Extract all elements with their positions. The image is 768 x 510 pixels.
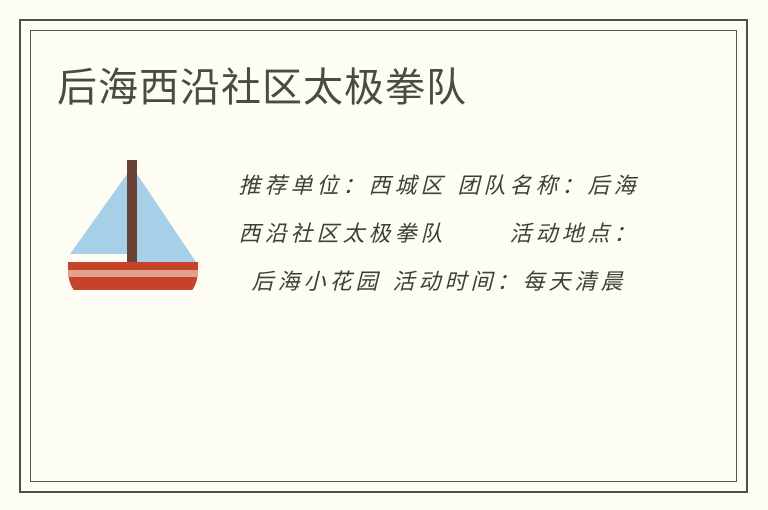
page-title: 后海西沿社区太极拳队 — [57, 62, 467, 114]
hull-stripe-shape — [68, 270, 198, 277]
info-card: 后海西沿社区太极拳队 推荐单位：西城区 团队名称：后海西沿社区太极拳队 活动地点… — [0, 0, 768, 510]
sail-left-shape — [70, 174, 127, 254]
sail-right-shape — [137, 174, 196, 262]
info-line-recommending-unit: 推荐单位：西城区 — [238, 174, 446, 199]
sailboat-icon — [66, 158, 200, 290]
mast-shape — [127, 160, 137, 270]
info-line-activity-time: 活动时间：每天清晨 — [393, 270, 627, 295]
info-text-block: 推荐单位：西城区 团队名称：后海西沿社区太极拳队 活动地点：后海小花园 活动时间… — [231, 163, 647, 307]
